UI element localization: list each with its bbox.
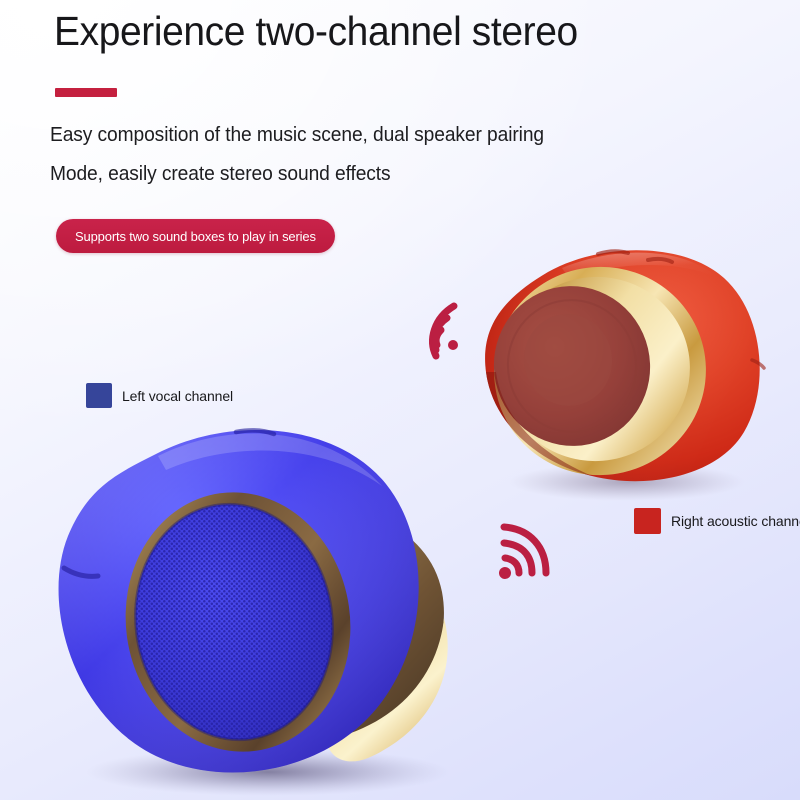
legend-left-label: Left vocal channel [122,388,233,404]
subtitle-line-2: Mode, easily create stereo sound effects [50,162,391,187]
feature-badge: Supports two sound boxes to play in seri… [56,219,335,253]
blue-channel-swatch [86,383,112,408]
sound-wave-icon-left [404,294,470,364]
page-title: Experience two-channel stereo [54,6,578,56]
legend-right-label: Right acoustic channel [671,513,800,529]
blue-bluetooth-speaker [38,410,498,800]
legend-right-channel: Right acoustic channel [634,508,800,534]
accent-divider [55,88,117,97]
sound-wave-icon-right [492,519,554,585]
red-bluetooth-speaker [452,236,792,506]
legend-left-channel: Left vocal channel [86,383,233,408]
red-channel-swatch [634,508,661,534]
subtitle-line-1: Easy composition of the music scene, dua… [50,123,544,148]
promo-banner: Experience two-channel stereo Easy compo… [0,0,800,800]
